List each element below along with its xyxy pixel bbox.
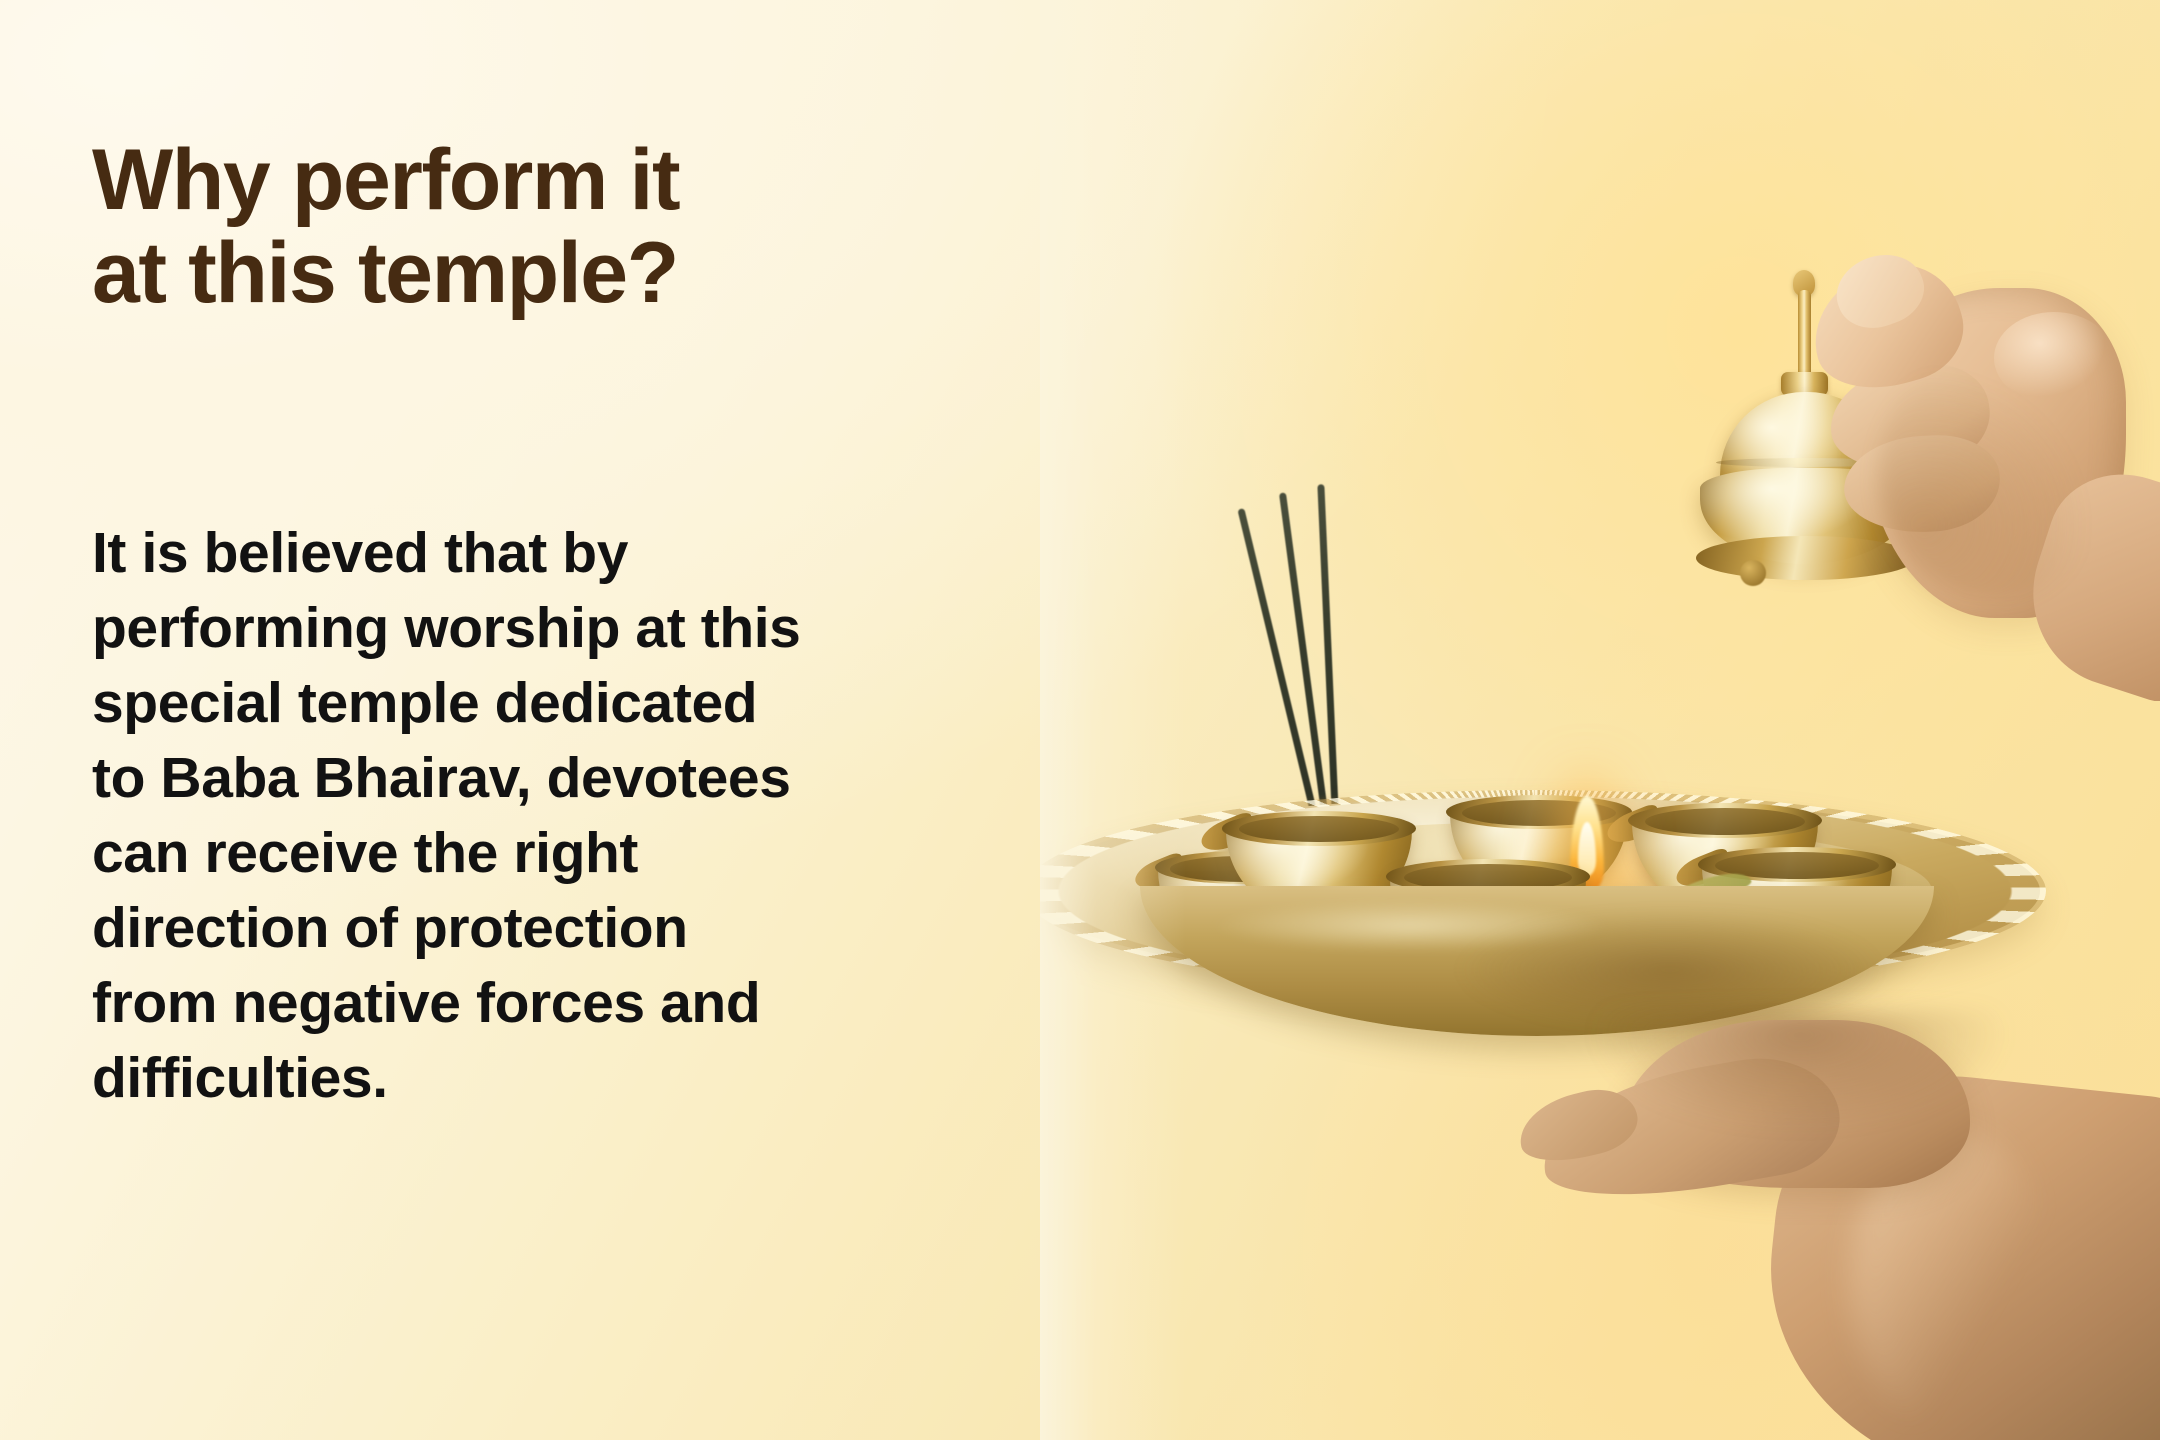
body-line-2: performing worship at this bbox=[92, 591, 1052, 666]
puja-photograph bbox=[1040, 0, 2160, 1440]
heading-line-1: Why perform it bbox=[92, 134, 1072, 227]
slide-card: Why perform it at this temple? It is bel… bbox=[0, 0, 2160, 1440]
hand-upper bbox=[1808, 250, 2160, 680]
body-line-8: difficulties. bbox=[92, 1041, 1052, 1116]
body-line-3: special temple dedicated bbox=[92, 666, 1052, 741]
body-line-4: to Baba Bhairav, devotees bbox=[92, 741, 1052, 816]
page-title: Why perform it at this temple? bbox=[92, 134, 1072, 320]
body-line-6: direction of protection bbox=[92, 891, 1052, 966]
body-line-5: can receive the right bbox=[92, 816, 1052, 891]
body-line-1: It is believed that by bbox=[92, 516, 1052, 591]
heading-line-2: at this temple? bbox=[92, 227, 1072, 320]
body-paragraph: It is believed that by performing worshi… bbox=[92, 516, 1052, 1116]
hand-lower-shadow bbox=[1590, 1010, 2010, 1130]
bowl-interior bbox=[1645, 808, 1805, 835]
hand-upper-shading bbox=[1878, 350, 2108, 600]
text-column: Why perform it at this temple? It is bel… bbox=[92, 0, 1102, 1440]
body-line-7: from negative forces and bbox=[92, 966, 1052, 1041]
hand-lower bbox=[1470, 1010, 2160, 1440]
bell-clapper bbox=[1740, 560, 1766, 586]
